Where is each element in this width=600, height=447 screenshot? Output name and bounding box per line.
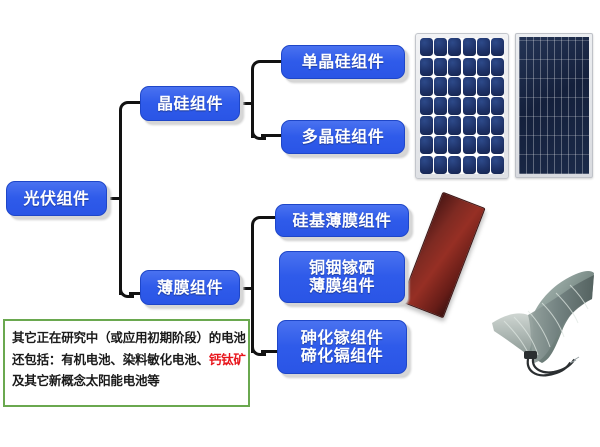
connector-corner-gaas bbox=[251, 341, 266, 356]
node-poly-label: 多晶硅组件 bbox=[282, 128, 404, 146]
node-silicon-thin-film-module[interactable]: 硅基薄膜组件 bbox=[275, 204, 409, 237]
node-polycrystalline-module[interactable]: 多晶硅组件 bbox=[281, 120, 405, 154]
node-root-pv-module[interactable]: 光伏组件 bbox=[6, 181, 107, 216]
node-thinfilm-label: 薄膜组件 bbox=[141, 279, 239, 297]
note-line-3: 及其它新概念太阳能电池等 bbox=[12, 370, 242, 392]
connector-corner-poly bbox=[251, 125, 266, 140]
note-box: 其它正在研究中（或应用初期阶段）的电池 还包括：有机电池、染料敏化电池、钙钛矿 … bbox=[3, 319, 250, 407]
mono-cell-grid bbox=[420, 38, 504, 174]
node-thin-film-module[interactable]: 薄膜组件 bbox=[140, 270, 240, 305]
flex-sheet-left bbox=[492, 313, 533, 355]
node-cigs-label: 铜铟镓硒 薄膜组件 bbox=[280, 259, 404, 295]
node-cigs-thin-film-module[interactable]: 铜铟镓硒 薄膜组件 bbox=[279, 251, 405, 303]
connector-to-mono bbox=[261, 60, 282, 63]
flexible-thin-film-module-photo bbox=[484, 259, 596, 379]
connector-thinfilm-spine bbox=[251, 225, 254, 353]
connector-root-spine bbox=[119, 110, 122, 295]
flexible-module-svg bbox=[484, 259, 596, 379]
node-silicon-thin-film-label: 硅基薄膜组件 bbox=[276, 212, 408, 230]
polycrystalline-solar-panel-photo bbox=[515, 33, 593, 178]
node-gaas-cdte-module[interactable]: 砷化镓组件 碲化镉组件 bbox=[277, 320, 407, 374]
node-monocrystalline-module[interactable]: 单晶硅组件 bbox=[281, 45, 405, 79]
note-line-2: 还包括：有机电池、染料敏化电池、钙钛矿 bbox=[12, 349, 242, 371]
note-line-1: 其它正在研究中（或应用初期阶段）的电池 bbox=[12, 327, 242, 349]
node-crystalline-silicon-module[interactable]: 晶硅组件 bbox=[140, 86, 240, 121]
flex-junction-box bbox=[524, 351, 537, 359]
connector-to-poly bbox=[261, 134, 282, 137]
note-line-2-text: 还包括：有机电池、染料敏化电池、 bbox=[12, 352, 209, 367]
thin-film-panel-photo bbox=[400, 192, 485, 319]
node-gaas-cdte-label: 砷化镓组件 碲化镉组件 bbox=[278, 329, 406, 365]
node-crystalline-label: 晶硅组件 bbox=[141, 95, 239, 113]
note-line-3-text: 及其它新概念太阳能电池等 bbox=[12, 373, 160, 388]
diagram-canvas: 光伏组件 晶硅组件 薄膜组件 单晶硅组件 多晶硅组件 硅基薄膜组件 铜铟镓硒 薄… bbox=[0, 0, 600, 447]
node-mono-label: 单晶硅组件 bbox=[282, 53, 404, 71]
monocrystalline-solar-panel-photo bbox=[415, 33, 509, 179]
note-line-1-text: 其它正在研究中（或应用初期阶段）的电池 bbox=[12, 330, 246, 345]
node-root-label: 光伏组件 bbox=[7, 190, 106, 208]
note-highlight-perovskite: 钙钛矿 bbox=[209, 352, 246, 367]
poly-cell-surface bbox=[519, 37, 589, 174]
connector-corner-thinfilm bbox=[119, 283, 134, 298]
flex-wire-tips bbox=[570, 357, 579, 363]
